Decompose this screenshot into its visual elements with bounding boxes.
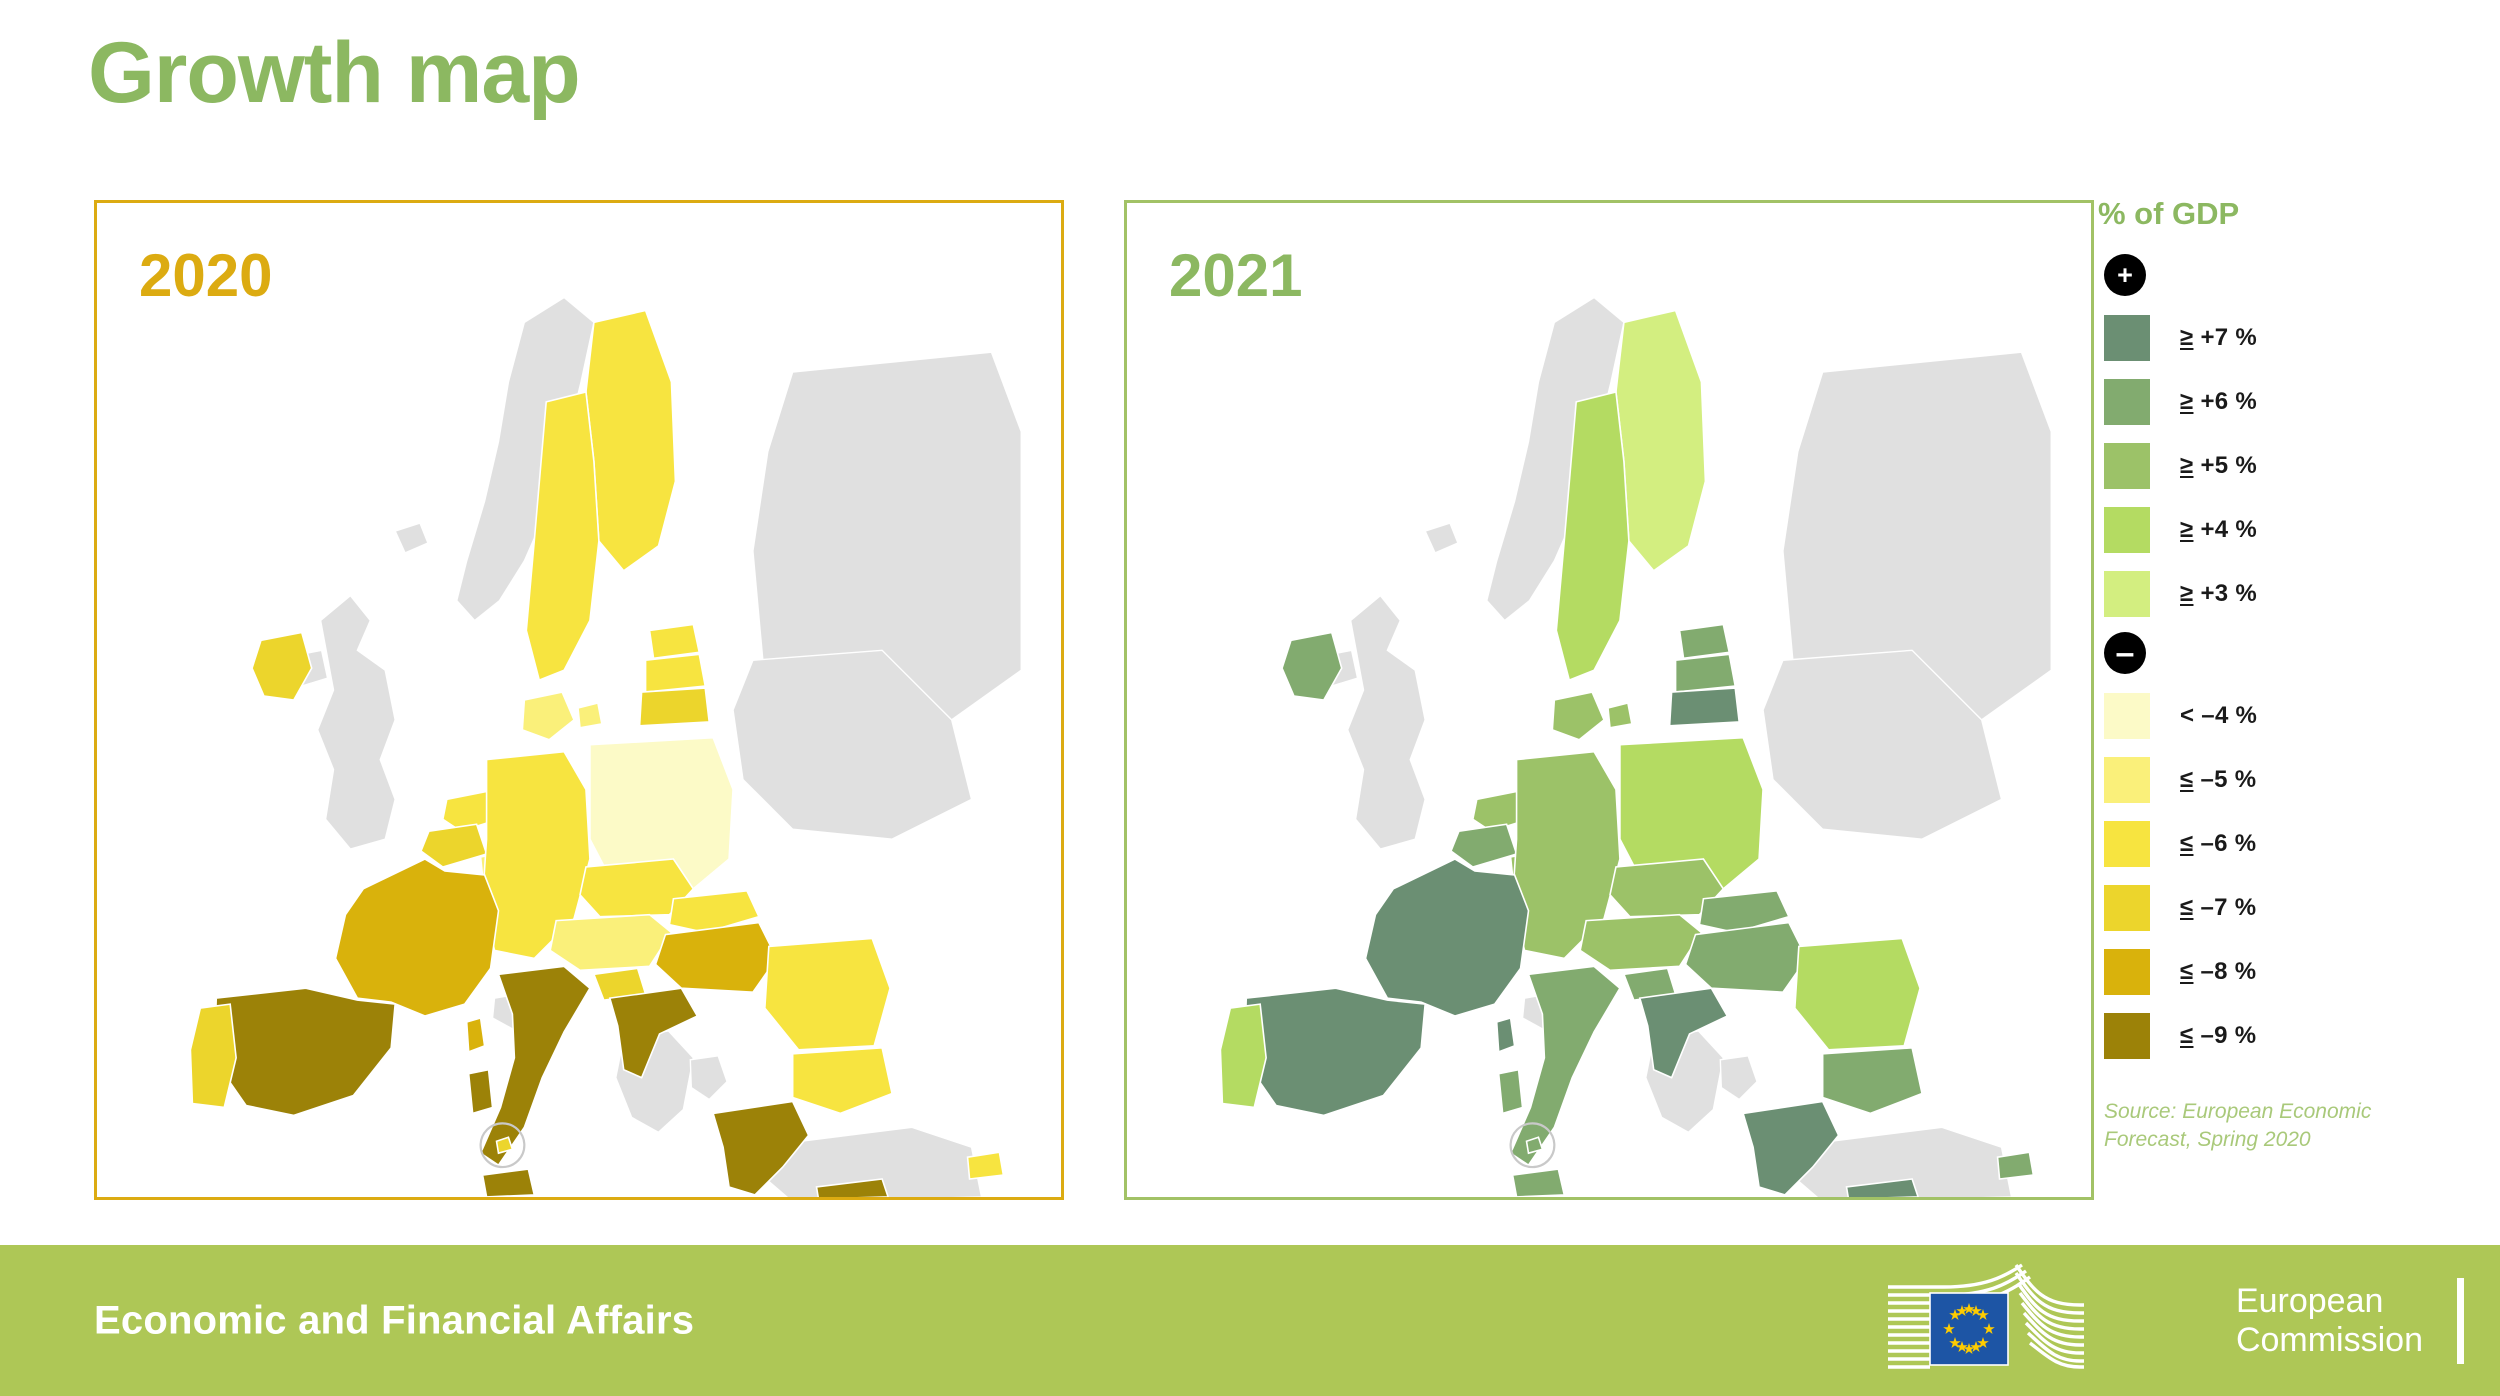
legend-op-neg-9: ≤	[2180, 1022, 2193, 1049]
country-cyprus	[1998, 1152, 2034, 1179]
legend: % of GDP + ≥ +7 % ≥ +6 % ≥ +5 %	[2098, 196, 2428, 1155]
ec-logo-divider	[2457, 1278, 2464, 1364]
country-portugal	[190, 1004, 236, 1107]
region-sardinia	[1499, 1070, 1523, 1114]
legend-swatch-pos-3	[2104, 571, 2150, 617]
legend-op-pos-4: ≥	[2180, 516, 2193, 543]
country-france	[336, 859, 499, 1016]
legend-op-neg-6: ≤	[2180, 830, 2193, 857]
legend-label-neg-5: ≤ –5 %	[2180, 766, 2256, 794]
country-bulgaria	[1823, 1048, 1922, 1114]
page-title: Growth map	[88, 26, 580, 121]
region-sicily	[1513, 1169, 1565, 1197]
ec-emblem-icon	[1884, 1261, 2214, 1381]
legend-row-pos-4[interactable]: ≥ +4 %	[2098, 498, 2428, 562]
legend-value-neg-9: –9 %	[2200, 1022, 2256, 1049]
legend-swatch-neg-8	[2104, 949, 2150, 995]
legend-label-neg-4: < –4 %	[2180, 702, 2257, 730]
country-finland	[586, 310, 675, 570]
legend-row-pos-5[interactable]: ≥ +5 %	[2098, 434, 2428, 498]
country-denmark	[522, 692, 574, 740]
legend-value-pos-6: +6 %	[2200, 388, 2257, 415]
country-finland	[1616, 310, 1705, 570]
region-corsica	[467, 1018, 485, 1052]
legend-swatch-neg-4	[2104, 693, 2150, 739]
map-panel-2021[interactable]: 2021	[1124, 200, 2094, 1200]
legend-label-pos-6: ≥ +6 %	[2180, 388, 2257, 416]
legend-row-neg-7[interactable]: ≤ –7 %	[2098, 876, 2428, 940]
country-hungary	[656, 923, 777, 993]
footer-department-label: Economic and Financial Affairs	[94, 1298, 694, 1343]
ec-logo-line-1: European	[2236, 1282, 2423, 1320]
country-latvia	[646, 654, 706, 692]
slide-root: Growth map	[0, 0, 2500, 1396]
region-sardinia	[469, 1070, 493, 1114]
country-italy	[1511, 966, 1620, 1165]
country-belgium	[421, 824, 487, 867]
footer-bar: Economic and Financial Affairs	[0, 1245, 2500, 1396]
legend-value-neg-6: –6 %	[2200, 830, 2256, 857]
legend-row-neg-5[interactable]: ≤ –5 %	[2098, 748, 2428, 812]
country-spain	[1244, 988, 1425, 1115]
country-ireland	[252, 632, 312, 700]
legend-row-neg-8[interactable]: ≤ –8 %	[2098, 940, 2428, 1004]
country-denmark	[1552, 692, 1604, 740]
legend-label-pos-5: ≥ +5 %	[2180, 452, 2257, 480]
country-bulgaria	[793, 1048, 892, 1114]
legend-op-pos-6: ≥	[2180, 388, 2193, 415]
country-belgium	[1451, 824, 1517, 867]
country-denmark-zealand	[578, 703, 602, 728]
legend-label-neg-6: ≤ –6 %	[2180, 830, 2256, 858]
country-portugal	[1220, 1004, 1266, 1107]
legend-swatch-neg-9	[2104, 1013, 2150, 1059]
map-panel-2020[interactable]: 2020	[94, 200, 1064, 1200]
legend-op-pos-3: ≥	[2180, 580, 2193, 607]
ec-logo-line-2: Commission	[2236, 1321, 2423, 1359]
year-label-2020: 2020	[139, 241, 272, 310]
legend-op-pos-7: ≥	[2180, 324, 2193, 351]
positive-sign-badge: +	[2104, 254, 2146, 296]
europe-map-2021[interactable]	[1127, 203, 2091, 1197]
european-commission-logo: European Commission	[1884, 1256, 2464, 1386]
legend-row-pos-6[interactable]: ≥ +6 %	[2098, 370, 2428, 434]
legend-op-pos-5: ≥	[2180, 452, 2193, 479]
legend-label-pos-3: ≥ +3 %	[2180, 580, 2257, 608]
legend-op-neg-8: ≤	[2180, 958, 2193, 985]
legend-row-neg-4[interactable]: < –4 %	[2098, 684, 2428, 748]
country-hungary	[1686, 923, 1807, 993]
legend-swatch-pos-5	[2104, 443, 2150, 489]
legend-label-neg-7: ≤ –7 %	[2180, 894, 2256, 922]
region-sicily	[483, 1169, 535, 1197]
legend-value-neg-8: –8 %	[2200, 958, 2256, 985]
legend-label-neg-9: ≤ –9 %	[2180, 1022, 2256, 1050]
legend-label-pos-7: ≥ +7 %	[2180, 324, 2257, 352]
country-ireland	[1282, 632, 1342, 700]
country-france	[1366, 859, 1529, 1016]
country-romania	[765, 939, 890, 1050]
legend-value-pos-4: +4 %	[2200, 516, 2257, 543]
legend-row-pos-3[interactable]: ≥ +3 %	[2098, 562, 2428, 626]
legend-row-neg-6[interactable]: ≤ –6 %	[2098, 812, 2428, 876]
country-cyprus	[968, 1152, 1004, 1179]
country-denmark-zealand	[1608, 703, 1632, 728]
region-corsica	[1497, 1018, 1515, 1052]
ec-logo-text: European Commission	[2236, 1282, 2423, 1358]
year-label-2021: 2021	[1169, 241, 1302, 310]
legend-value-neg-7: –7 %	[2200, 894, 2256, 921]
legend-value-pos-7: +7 %	[2200, 324, 2257, 351]
legend-swatch-neg-6	[2104, 821, 2150, 867]
legend-row-neg-9[interactable]: ≤ –9 %	[2098, 1004, 2428, 1068]
legend-title: % of GDP	[2098, 196, 2428, 232]
country-italy	[481, 966, 590, 1165]
country-romania	[1795, 939, 1920, 1050]
legend-value-neg-4: –4 %	[2201, 702, 2257, 729]
source-note: Source: European Economic Forecast, Spri…	[2104, 1098, 2428, 1155]
legend-swatch-pos-6	[2104, 379, 2150, 425]
country-latvia	[1676, 654, 1736, 692]
legend-value-pos-5: +5 %	[2200, 452, 2257, 479]
legend-swatch-pos-4	[2104, 507, 2150, 553]
country-lithuania	[640, 688, 710, 726]
legend-swatch-neg-5	[2104, 757, 2150, 803]
legend-swatch-neg-7	[2104, 885, 2150, 931]
legend-label-neg-8: ≤ –8 %	[2180, 958, 2256, 986]
negative-sign-badge: –	[2104, 632, 2146, 674]
legend-swatch-pos-7	[2104, 315, 2150, 361]
country-austria	[550, 915, 671, 971]
legend-value-neg-5: –5 %	[2200, 766, 2256, 793]
country-lithuania	[1670, 688, 1740, 726]
europe-map-2020[interactable]	[97, 203, 1061, 1197]
legend-op-neg-5: ≤	[2180, 766, 2193, 793]
legend-op-neg-7: ≤	[2180, 894, 2193, 921]
legend-op-neg-4: <	[2180, 702, 2194, 729]
country-austria	[1580, 915, 1701, 971]
country-estonia	[650, 624, 700, 658]
legend-row-pos-7[interactable]: ≥ +7 %	[2098, 306, 2428, 370]
legend-label-pos-4: ≥ +4 %	[2180, 516, 2257, 544]
country-malta	[1527, 1137, 1543, 1153]
country-spain	[214, 988, 395, 1115]
country-estonia	[1680, 624, 1730, 658]
country-malta	[497, 1137, 513, 1153]
legend-value-pos-3: +3 %	[2200, 580, 2257, 607]
